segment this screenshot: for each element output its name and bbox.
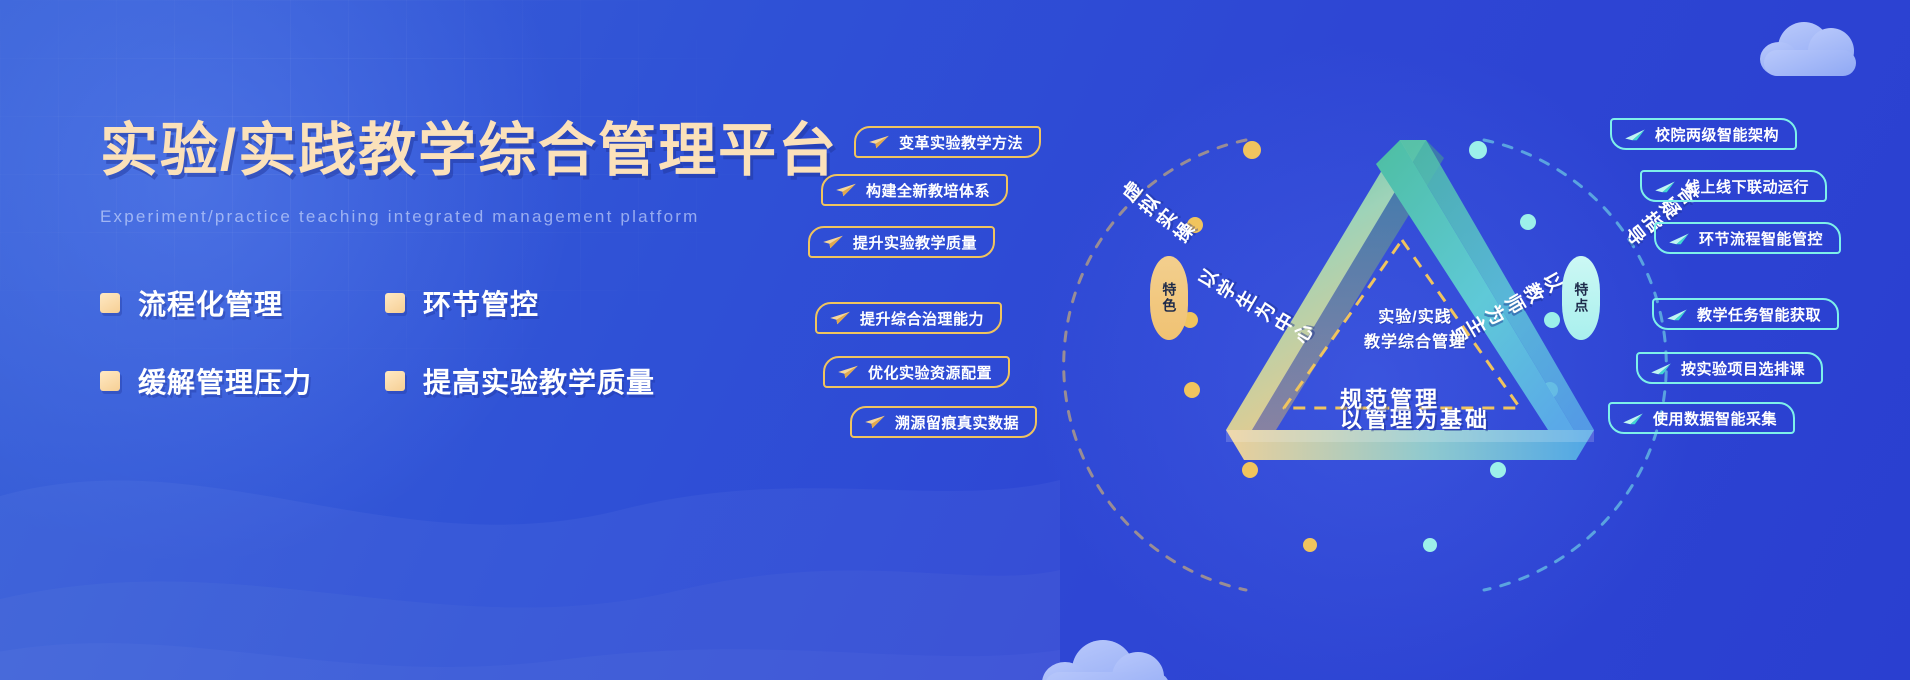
paper-plane-icon bbox=[1622, 410, 1644, 426]
tag-pill-label: 提升综合治理能力 bbox=[860, 308, 984, 329]
bullet-label: 缓解管理压力 bbox=[138, 361, 312, 401]
tag-pill-label: 线上线下联动运行 bbox=[1685, 176, 1809, 197]
tag-pill-right-5[interactable]: 按实验项目选排课 bbox=[1636, 352, 1823, 384]
list-item: 提高实验教学质量 bbox=[385, 361, 860, 401]
tag-pill-left-3[interactable]: 提升实验教学质量 bbox=[808, 226, 995, 258]
core-line-1: 实验/实践 bbox=[1364, 306, 1466, 331]
tag-pill-right-2[interactable]: 线上线下联动运行 bbox=[1640, 170, 1827, 202]
list-item: 流程化管理 bbox=[100, 283, 385, 323]
paper-plane-icon bbox=[1668, 230, 1690, 246]
paper-plane-icon bbox=[1666, 306, 1688, 322]
badge-feature-left: 特色 bbox=[1150, 256, 1188, 340]
tag-pill-right-1[interactable]: 校院两级智能架构 bbox=[1610, 118, 1797, 150]
tag-pill-left-2[interactable]: 构建全新教培体系 bbox=[821, 174, 1008, 206]
triangle-core-text: 实验/实践 教学综合管理 bbox=[1364, 306, 1466, 356]
bullet-square-icon bbox=[100, 293, 120, 313]
tag-pill-left-4[interactable]: 提升综合治理能力 bbox=[815, 302, 1002, 334]
page-subtitle: Experiment/practice teaching integrated … bbox=[100, 207, 860, 227]
tag-pill-label: 使用数据智能采集 bbox=[1653, 408, 1777, 429]
tag-pill-label: 提升实验教学质量 bbox=[853, 232, 977, 253]
tag-pill-label: 构建全新教培体系 bbox=[866, 180, 990, 201]
paper-plane-icon bbox=[1624, 126, 1646, 142]
page-title: 实验/实践教学综合管理平台 bbox=[100, 118, 860, 185]
tag-pill-label: 教学任务智能获取 bbox=[1697, 304, 1821, 325]
outer-label-left: 虚拟实操 bbox=[1115, 176, 1201, 251]
bullet-square-icon bbox=[385, 371, 405, 391]
tag-pill-right-4[interactable]: 教学任务智能获取 bbox=[1652, 298, 1839, 330]
tag-pill-label: 溯源留痕真实数据 bbox=[895, 412, 1019, 433]
paper-plane-icon bbox=[822, 234, 844, 250]
paper-plane-icon bbox=[1650, 360, 1672, 376]
concept-diagram: 以学生为中心 以教师为主导 以管理为基础 实验/实践 教学综合管理 虚拟实操 答… bbox=[960, 0, 1910, 680]
tag-pill-label: 环节流程智能管控 bbox=[1699, 228, 1823, 249]
tag-pill-label: 变革实验教学方法 bbox=[899, 132, 1023, 153]
tag-pill-label: 按实验项目选排课 bbox=[1681, 358, 1805, 379]
tag-pill-left-5[interactable]: 优化实验资源配置 bbox=[823, 356, 1010, 388]
tag-pill-label: 优化实验资源配置 bbox=[868, 362, 992, 383]
tag-pill-left-1[interactable]: 变革实验教学方法 bbox=[854, 126, 1041, 158]
tag-pill-right-6[interactable]: 使用数据智能采集 bbox=[1608, 402, 1795, 434]
bullet-label: 环节管控 bbox=[423, 283, 539, 323]
list-item: 环节管控 bbox=[385, 283, 860, 323]
hero-text-block: 实验/实践教学综合管理平台 Experiment/practice teachi… bbox=[100, 118, 860, 401]
feature-bullet-list: 流程化管理 环节管控 缓解管理压力 提高实验教学质量 bbox=[100, 283, 860, 401]
tag-pill-left-6[interactable]: 溯源留痕真实数据 bbox=[850, 406, 1037, 438]
core-line-2: 教学综合管理 bbox=[1364, 331, 1466, 356]
paper-plane-icon bbox=[829, 310, 851, 326]
paper-plane-icon bbox=[864, 414, 886, 430]
list-item: 缓解管理压力 bbox=[100, 361, 385, 401]
bullet-label: 提高实验教学质量 bbox=[423, 361, 655, 401]
outer-label-bottom: 规范管理 bbox=[1340, 382, 1440, 414]
bullet-square-icon bbox=[385, 293, 405, 313]
paper-plane-icon bbox=[868, 134, 890, 150]
hero-banner: 实验/实践教学综合管理平台 Experiment/practice teachi… bbox=[0, 0, 1910, 680]
tag-pill-label: 校院两级智能架构 bbox=[1655, 124, 1779, 145]
bullet-square-icon bbox=[100, 371, 120, 391]
paper-plane-icon bbox=[835, 182, 857, 198]
paper-plane-icon bbox=[837, 364, 859, 380]
tag-pill-right-3[interactable]: 环节流程智能管控 bbox=[1654, 222, 1841, 254]
badge-feature-right: 特点 bbox=[1562, 256, 1600, 340]
paper-plane-icon bbox=[1654, 178, 1676, 194]
bullet-label: 流程化管理 bbox=[138, 283, 283, 323]
